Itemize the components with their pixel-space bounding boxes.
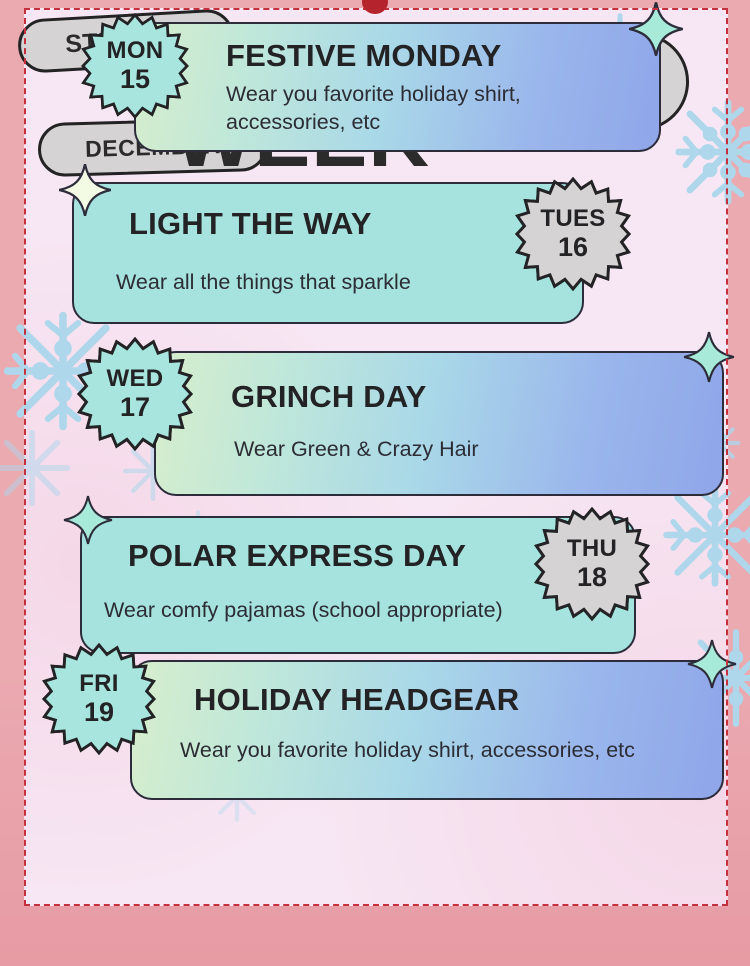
day-badge-label: MON 15 bbox=[83, 14, 187, 118]
day-of-week: WED bbox=[107, 367, 164, 391]
day-of-week: TUES bbox=[540, 207, 605, 231]
day-description: Wear you favorite holiday shirt, accesso… bbox=[226, 80, 566, 137]
day-description: Wear you favorite holiday shirt, accesso… bbox=[180, 736, 740, 764]
day-number: 16 bbox=[558, 234, 588, 261]
day-badge: TUES 16 bbox=[517, 178, 629, 290]
day-of-week: THU bbox=[567, 537, 617, 561]
poster-page: STUDENT DECEMBER 2025 SPIRIT WEEK FESTIV… bbox=[24, 8, 728, 906]
snowflake-icon bbox=[0, 426, 74, 510]
day-of-week: FRI bbox=[79, 672, 119, 696]
day-badge-label: THU 18 bbox=[536, 508, 648, 620]
day-title: HOLIDAY HEADGEAR bbox=[194, 682, 519, 718]
day-title: POLAR EXPRESS DAY bbox=[128, 538, 466, 574]
day-description: Wear all the things that sparkle bbox=[116, 268, 536, 296]
day-of-week: MON bbox=[107, 39, 164, 63]
day-badge-label: FRI 19 bbox=[44, 644, 154, 754]
day-card: LIGHT THE WAY Wear all the things that s… bbox=[72, 182, 584, 324]
day-title: FESTIVE MONDAY bbox=[226, 38, 502, 74]
day-card: HOLIDAY HEADGEAR Wear you favorite holid… bbox=[130, 660, 724, 800]
day-badge: FRI 19 bbox=[44, 644, 154, 754]
day-number: 17 bbox=[120, 394, 150, 421]
day-description: Wear Green & Crazy Hair bbox=[234, 435, 674, 463]
day-title: GRINCH DAY bbox=[231, 379, 427, 415]
day-number: 19 bbox=[84, 699, 114, 726]
day-badge-label: WED 17 bbox=[79, 338, 191, 450]
day-badge: MON 15 bbox=[83, 14, 187, 118]
day-number: 15 bbox=[120, 66, 150, 93]
day-badge: WED 17 bbox=[79, 338, 191, 450]
day-title: LIGHT THE WAY bbox=[129, 206, 372, 242]
day-card: GRINCH DAY Wear Green & Crazy Hair bbox=[154, 351, 724, 496]
spirit-week-poster: STUDENT DECEMBER 2025 SPIRIT WEEK FESTIV… bbox=[0, 0, 750, 966]
day-badge: THU 18 bbox=[536, 508, 648, 620]
snowflake-icon bbox=[660, 480, 750, 590]
day-badge-label: TUES 16 bbox=[517, 178, 629, 290]
day-number: 18 bbox=[577, 564, 607, 591]
day-card: FESTIVE MONDAY Wear you favorite holiday… bbox=[134, 22, 661, 152]
